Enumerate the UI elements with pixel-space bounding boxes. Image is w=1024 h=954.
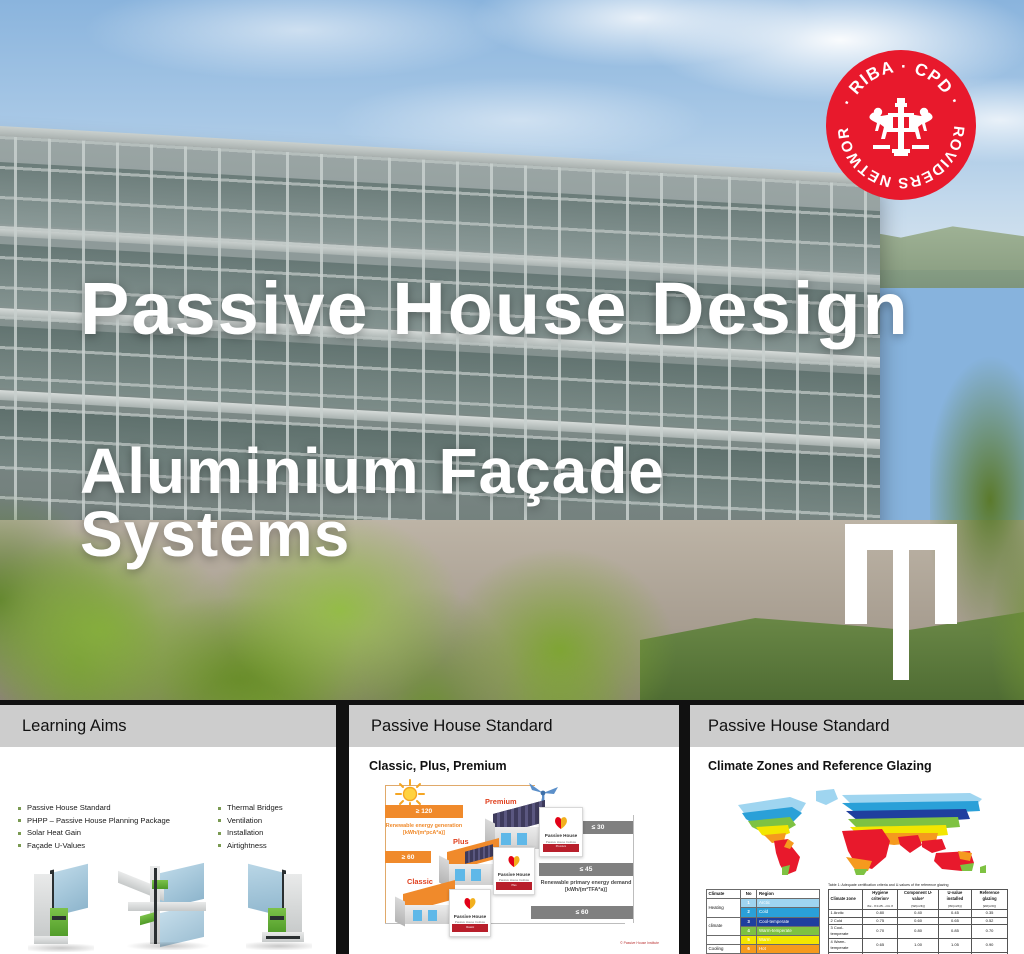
panel-body: Classic, Plus, Premium bbox=[349, 747, 679, 954]
certificate-premium: Passive House Passive House Institute Pr… bbox=[539, 807, 583, 857]
group-label-heating: Heating bbox=[707, 899, 741, 917]
zone-no: 3 bbox=[740, 917, 757, 926]
table-row: climate 3 Cool-temperate bbox=[707, 917, 820, 926]
riba-cpd-seal: · RIBA · CPD · PROVIDERS NETWORK bbox=[826, 50, 976, 200]
u-value-table-caption: Table 1: Adequate certification criteria… bbox=[828, 883, 948, 887]
column-header-no: No bbox=[740, 890, 757, 899]
cell-u-installed: 1.05 bbox=[938, 938, 971, 952]
cell-zone: 4 Warm-temperate bbox=[829, 938, 863, 952]
table-row: 2 Cold 0.75 0.60 0.65 0.52 bbox=[829, 917, 1008, 924]
panel-header: Learning Aims bbox=[0, 705, 336, 747]
zone-region: Warm-temperate bbox=[757, 926, 820, 935]
table-header-row: Climate No Region bbox=[707, 890, 820, 899]
window-section-right bbox=[240, 868, 312, 948]
window-section-corner bbox=[110, 862, 226, 950]
cell-u-installed: 0.45 bbox=[938, 910, 971, 917]
panel-title: Passive House Standard bbox=[708, 717, 890, 736]
cell-ref-glazing: 0.52 bbox=[972, 917, 1008, 924]
u-value-table: Climate zone Hygiene criterion¹ θsi - θ … bbox=[828, 889, 1008, 954]
right-axis-caption: Renewable primary energy demand [kWh/(m²… bbox=[539, 880, 633, 894]
page-subtitle-line1: Aluminium Façade bbox=[80, 440, 800, 503]
zone-region: Hot bbox=[757, 945, 820, 954]
cell-component-u: 0.80 bbox=[898, 925, 938, 939]
table-row: 4 Warm-temperate 0.65 1.00 1.05 0.90 bbox=[829, 938, 1008, 952]
certificate-classic: Passive House Passive House Institute Cl… bbox=[449, 889, 491, 937]
page-title: Passive House Design bbox=[80, 272, 910, 346]
column-header-u-installed: U-value installed [W/(m²K)] bbox=[938, 890, 971, 910]
certificate-label: Passive House bbox=[450, 914, 490, 919]
climate-zone-table: Climate No Region Heating 1 Arctic 2 Col… bbox=[706, 889, 820, 954]
cell-component-u: 0.40 bbox=[898, 910, 938, 917]
cell-zone: 3 Cool-temperate bbox=[829, 925, 863, 939]
list-item: Installation bbox=[218, 827, 283, 840]
header-main: Reference glazing bbox=[980, 890, 1000, 901]
cell-ref-glazing: 0.35 bbox=[972, 910, 1008, 917]
group-label-cooling: Cooling bbox=[707, 945, 741, 954]
panel-header: Passive House Standard bbox=[690, 705, 1024, 747]
cell-zone: 2 Cold bbox=[829, 917, 863, 924]
column-header-climate: Climate bbox=[707, 890, 741, 899]
bar-generation-60: ≥ 60 bbox=[385, 851, 431, 863]
column-header-component-u: Component U-value² [W/(m²K)] bbox=[898, 890, 938, 910]
column-header-reference-glazing: Reference glazing [W/(m²K)] bbox=[972, 890, 1008, 910]
list-item: Passive House Standard bbox=[18, 802, 170, 815]
header-main: Component U-value² bbox=[904, 890, 932, 901]
left-axis-caption: Renewable energy generation [kWh/(m²pcA*… bbox=[385, 823, 463, 837]
cell-hygiene: 0.65 bbox=[863, 938, 898, 952]
certificate-plus: Passive House Passive House Institute Pl… bbox=[493, 847, 535, 895]
panel-title: Passive House Standard bbox=[371, 717, 553, 736]
learning-aims-column-2: Thermal Bridges Ventilation Installation… bbox=[218, 802, 283, 852]
zone-region: Cool-temperate bbox=[757, 917, 820, 926]
zone-region: Cold bbox=[757, 908, 820, 917]
axis-vertical-right bbox=[633, 815, 634, 923]
cell-ref-glazing: 0.70 bbox=[972, 925, 1008, 939]
metal-technology-logo bbox=[845, 524, 957, 680]
list-item: Solar Heat Gain bbox=[18, 827, 170, 840]
panel-subtitle: Climate Zones and Reference Glazing bbox=[708, 759, 932, 773]
certificate-label: Passive House bbox=[540, 833, 582, 838]
zone-no: 5 bbox=[740, 936, 757, 945]
passive-house-bird-icon bbox=[553, 816, 569, 830]
panel-passive-house-standard-classes[interactable]: Passive House Standard Classic, Plus, Pr… bbox=[349, 705, 679, 954]
zone-no: 1 bbox=[740, 899, 757, 908]
list-item: Airtightness bbox=[218, 840, 283, 853]
panel-title: Learning Aims bbox=[22, 717, 127, 736]
list-item: Façade U-Values bbox=[18, 840, 170, 853]
column-header-region: Region bbox=[757, 890, 820, 899]
bar-demand-60: ≤ 60 bbox=[531, 906, 633, 919]
slide-page: · RIBA · CPD · PROVIDERS NETWORK bbox=[0, 0, 1024, 954]
cell-component-u: 1.00 bbox=[898, 938, 938, 952]
hero-photo: · RIBA · CPD · PROVIDERS NETWORK bbox=[0, 0, 1024, 700]
cell-u-installed: 0.85 bbox=[938, 925, 971, 939]
header-main: Hygiene criterion¹ bbox=[871, 890, 889, 901]
panel-learning-aims[interactable]: Learning Aims Passive House Standard PHP… bbox=[0, 705, 336, 954]
panel-body: Passive House Standard PHPP – Passive Ho… bbox=[0, 747, 336, 954]
panel-climate-zones[interactable]: Passive House Standard Climate Zones and… bbox=[690, 705, 1024, 954]
tier-label-premium: Premium bbox=[485, 797, 517, 806]
window-section-left bbox=[28, 868, 94, 946]
header-sub: [W/(m²K)] bbox=[940, 903, 969, 909]
diagram-credit: © Passive House Institute bbox=[620, 941, 659, 945]
table-row: 5 Warm bbox=[707, 936, 820, 945]
cell-zone: 1 Arctic bbox=[829, 910, 863, 917]
header-main: U-value installed bbox=[947, 890, 964, 901]
cell-hygiene: 0.80 bbox=[863, 910, 898, 917]
table-row: Cooling 6 Hot bbox=[707, 945, 820, 954]
zone-region: Arctic bbox=[757, 899, 820, 908]
cell-hygiene: 0.70 bbox=[863, 925, 898, 939]
zone-region: Warm bbox=[757, 936, 820, 945]
header-sub: [W/(m²K)] bbox=[974, 903, 1006, 909]
panel-subtitle: Classic, Plus, Premium bbox=[369, 759, 507, 773]
cell-hygiene: 0.75 bbox=[863, 917, 898, 924]
page-subtitle-line2: Systems bbox=[80, 503, 800, 566]
group-label-heating-cont: climate bbox=[707, 917, 741, 935]
column-header-climate-zone: Climate zone bbox=[829, 890, 863, 910]
panel-body: Climate Zones and Reference Glazing bbox=[690, 747, 1024, 954]
passive-house-bird-icon bbox=[507, 855, 522, 868]
bar-generation-120: ≥ 120 bbox=[385, 805, 463, 818]
list-item: Thermal Bridges bbox=[218, 802, 283, 815]
bar-demand-45: ≤ 45 bbox=[539, 863, 633, 876]
learning-aims-column-1: Passive House Standard PHPP – Passive Ho… bbox=[18, 802, 170, 852]
cell-ref-glazing: 0.90 bbox=[972, 938, 1008, 952]
cell-u-installed: 0.65 bbox=[938, 917, 971, 924]
window-profile-figure bbox=[0, 862, 336, 954]
cell-component-u: 0.60 bbox=[898, 917, 938, 924]
certificate-class: Plus bbox=[496, 884, 531, 887]
certificate-class-bar: Classic bbox=[452, 924, 487, 932]
column-header-hygiene: Hygiene criterion¹ θsi - θ 0.25 - crit. … bbox=[863, 890, 898, 910]
certificate-class-bar: Plus bbox=[496, 882, 531, 890]
panel-header: Passive House Standard bbox=[349, 705, 679, 747]
page-subtitle: Aluminium Façade Systems bbox=[80, 440, 800, 565]
zone-no: 4 bbox=[740, 926, 757, 935]
zone-no: 2 bbox=[740, 908, 757, 917]
certificate-class: Classic bbox=[452, 926, 487, 929]
table-row: 3 Cool-temperate 0.70 0.80 0.85 0.70 bbox=[829, 925, 1008, 939]
passive-house-bird-icon bbox=[463, 897, 478, 910]
certificate-class: Premium bbox=[543, 845, 580, 848]
list-item: Ventilation bbox=[218, 815, 283, 828]
table-header-row: Climate zone Hygiene criterion¹ θsi - θ … bbox=[829, 890, 1008, 910]
header-sub: [W/(m²K)] bbox=[900, 903, 936, 909]
world-climate-zone-map bbox=[730, 783, 992, 879]
list-item: PHPP – Passive House Planning Package bbox=[18, 815, 170, 828]
thumbnail-panel-row: Learning Aims Passive House Standard PHP… bbox=[0, 700, 1024, 954]
zone-no: 6 bbox=[740, 945, 757, 954]
passive-house-class-diagram: ≥ 120 Renewable energy generation [kWh/(… bbox=[363, 779, 665, 949]
certificate-class-bar: Premium bbox=[543, 844, 580, 853]
table-row: Heating 1 Arctic bbox=[707, 899, 820, 908]
group-label-spacer bbox=[707, 936, 741, 945]
certificate-label: Passive House bbox=[494, 872, 534, 877]
tier-label-classic: Classic bbox=[407, 877, 433, 886]
table-row: 1 Arctic 0.80 0.40 0.45 0.35 bbox=[829, 910, 1008, 917]
header-sub: θsi - θ 0.25 - crit. θ bbox=[865, 903, 896, 909]
